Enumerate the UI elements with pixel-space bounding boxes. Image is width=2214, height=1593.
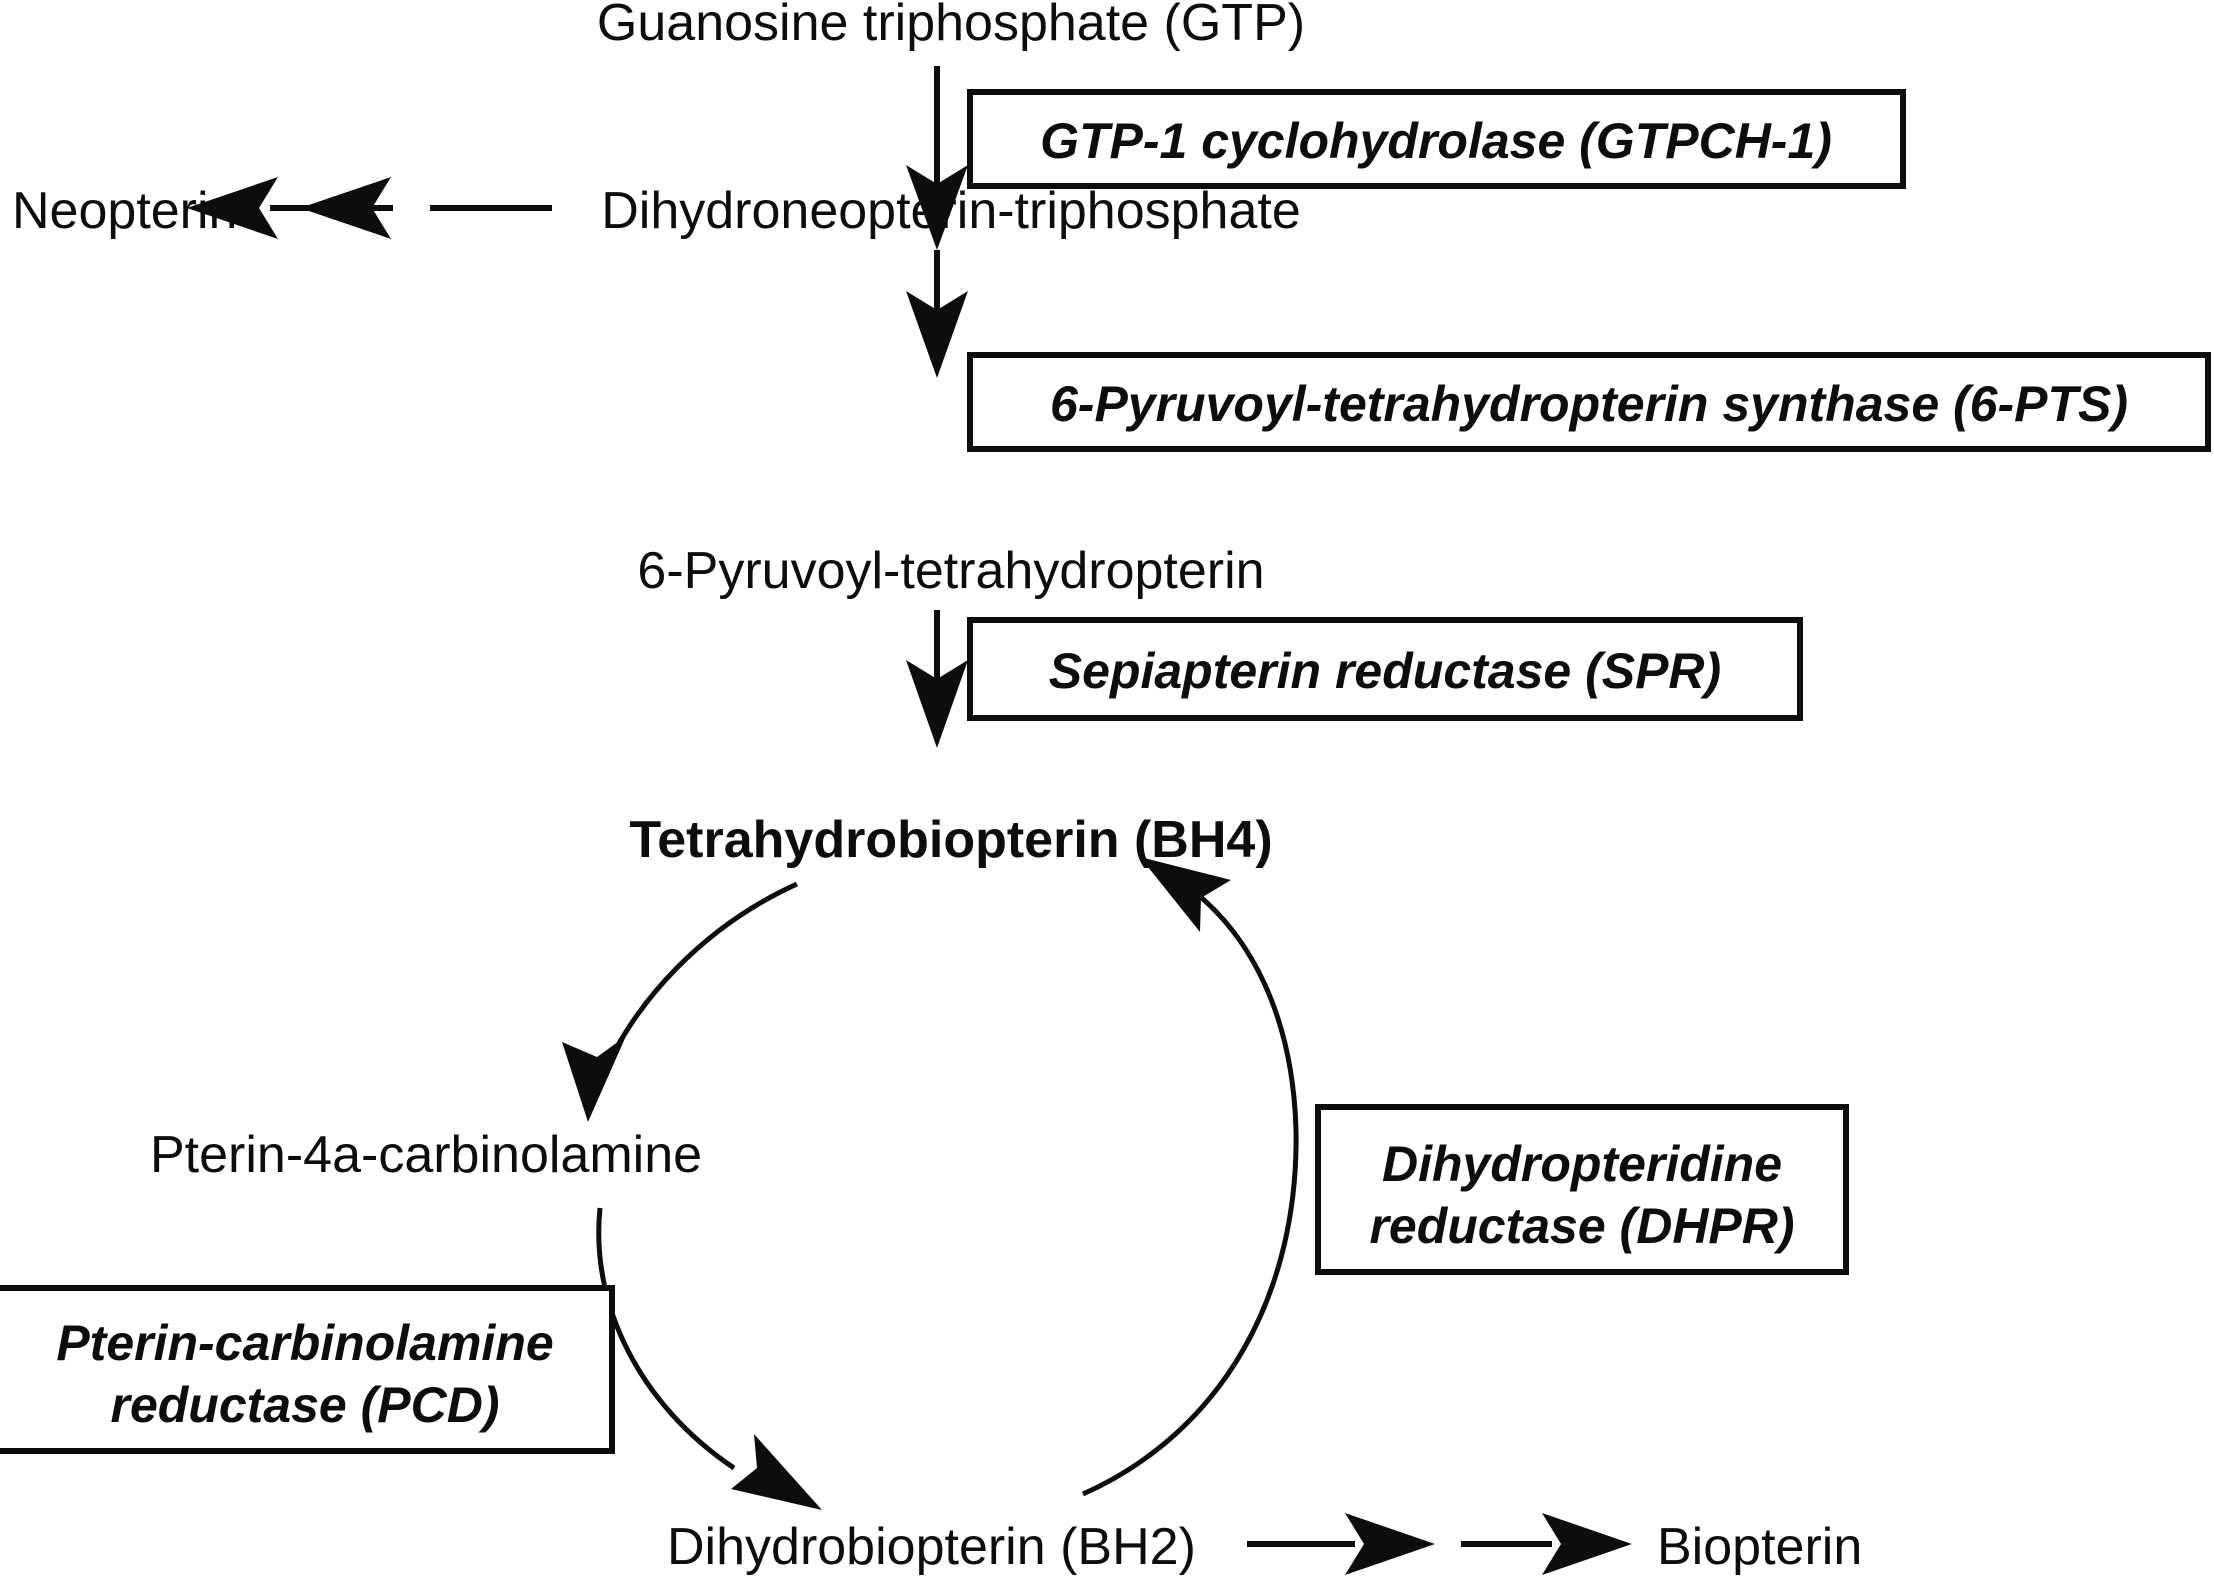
curved-arrow-icon: [731, 1434, 822, 1510]
metabolite-bh4: Tetrahydrobiopterin (BH4): [629, 811, 1272, 869]
metabolite-pyruvoyl-tetrahydropterin: 6-Pyruvoyl-tetrahydropterin: [637, 542, 1264, 600]
arrow-carbinolamine-to-bh2: [599, 1208, 822, 1510]
arrow-bh2-to-bh4: [1083, 857, 1296, 1494]
metabolite-dihydroneopterin-triphosphate: Dihydroneopterin-triphosphate: [601, 182, 1301, 240]
arrow-bh2-to-biopterin-first: [1247, 1513, 1435, 1575]
pathway-diagram: Guanosine triphosphate (GTP) GTP-1 cyclo…: [0, 0, 2214, 1593]
enzyme-box-6pts: 6-Pyruvoyl-tetrahydropterin synthase (6-…: [970, 355, 2208, 449]
metabolite-biopterin: Biopterin: [1657, 1518, 1862, 1576]
enzyme-label-spr: Sepiapterin reductase (SPR): [1049, 643, 1721, 699]
enzyme-box-gtpch1: GTP-1 cyclohydrolase (GTPCH-1): [970, 92, 1903, 186]
arrow-dihydroneopterin-to-neopterin-inner: [300, 177, 552, 239]
arrow-dihydroneopterin-to-pyruvoyl: [906, 250, 968, 378]
metabolite-pterin-4a-carbinolamine: Pterin-4a-carbinolamine: [150, 1126, 702, 1184]
arrow-bh2-to-biopterin-second: [1461, 1513, 1632, 1575]
enzyme-label-pcd-line1: Pterin-carbinolamine: [56, 1315, 553, 1371]
curved-arrow-icon: [562, 1036, 626, 1122]
right-arrow-icon: [1345, 1513, 1435, 1575]
enzyme-box-dhpr: Dihydropteridine reductase (DHPR): [1318, 1107, 1846, 1272]
enzyme-label-dhpr-line2: reductase (DHPR): [1369, 1198, 1794, 1254]
pathway-svg: Guanosine triphosphate (GTP) GTP-1 cyclo…: [0, 0, 2214, 1593]
enzyme-label-dhpr-line1: Dihydropteridine: [1382, 1136, 1782, 1192]
metabolite-gtp: Guanosine triphosphate (GTP): [597, 0, 1305, 52]
enzyme-label-6pts: 6-Pyruvoyl-tetrahydropterin synthase (6-…: [1050, 376, 2128, 432]
arrow-bh4-to-carbinolamine: [562, 884, 797, 1122]
metabolite-bh2: Dihydrobiopterin (BH2): [667, 1518, 1196, 1576]
enzyme-box-spr: Sepiapterin reductase (SPR): [970, 620, 1800, 718]
arrow-pyruvoyl-to-bh4: [906, 610, 968, 748]
enzyme-label-gtpch1: GTP-1 cyclohydrolase (GTPCH-1): [1040, 113, 1832, 169]
enzyme-label-pcd-line2: reductase (PCD): [111, 1377, 500, 1433]
enzyme-box-pcd: Pterin-carbinolamine reductase (PCD): [0, 1288, 612, 1451]
right-arrow-icon: [1542, 1513, 1632, 1575]
